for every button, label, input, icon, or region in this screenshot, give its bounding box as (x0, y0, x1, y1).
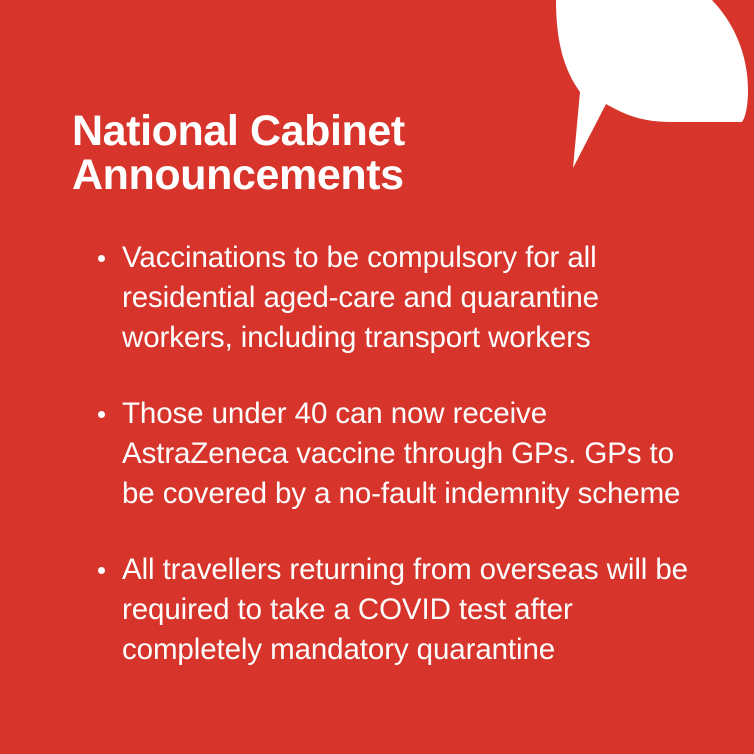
list-item-text: Those under 40 can now receive AstraZene… (122, 394, 712, 514)
page-title-line-1: National Cabinet (72, 110, 542, 154)
list-item-text: Vaccinations to be compulsory for all re… (122, 238, 712, 358)
announcement-list: Vaccinations to be compulsory for all re… (92, 238, 712, 670)
speech-bubble-icon (520, 0, 754, 190)
announcement-poster: National Cabinet Announcements Vaccinati… (0, 0, 754, 754)
bullet-dot-icon (98, 255, 105, 262)
list-item: Vaccinations to be compulsory for all re… (92, 238, 712, 358)
bullet-dot-icon (98, 411, 105, 418)
page-title-line-2: Announcements (72, 154, 542, 198)
bullet-dot-icon (98, 567, 105, 574)
list-item: Those under 40 can now receive AstraZene… (92, 394, 712, 514)
list-item: All travellers returning from overseas w… (92, 550, 712, 670)
page-title: National Cabinet Announcements (72, 110, 542, 198)
list-item-text: All travellers returning from overseas w… (122, 550, 712, 670)
